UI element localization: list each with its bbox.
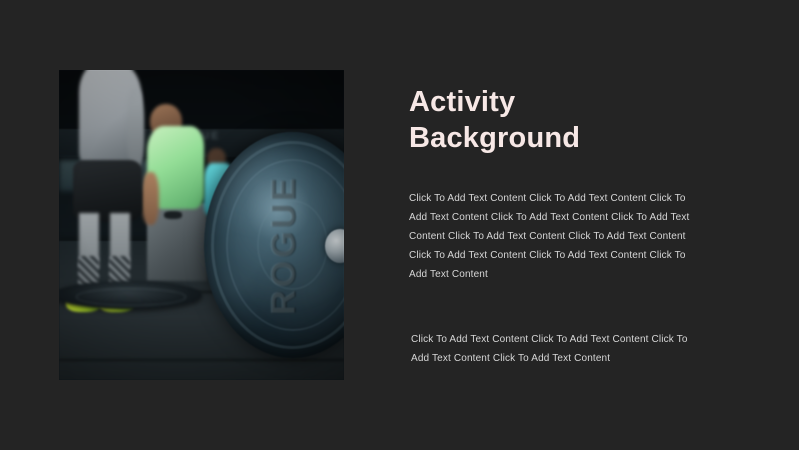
bumper-plate-brand-text: ROGUE [189,212,344,279]
body-paragraph-secondary[interactable]: Click To Add Text Content Click To Add T… [411,330,698,368]
body-paragraph-primary[interactable]: Click To Add Text Content Click To Add T… [409,189,698,284]
athlete-left-arm [127,89,144,170]
floor-seam [59,359,344,361]
text-column: Activity Background Click To Add Text Co… [409,84,701,156]
activity-photo[interactable]: ROGUE [59,70,344,380]
page-title[interactable]: Activity Background [409,84,624,156]
photo-canvas: ROGUE [59,70,344,380]
athlete-center-arm [142,172,159,225]
slide-canvas: ROGUE [0,0,799,450]
plyo-box-handle [164,211,181,219]
ground-barbell-plate-rim [76,288,186,306]
